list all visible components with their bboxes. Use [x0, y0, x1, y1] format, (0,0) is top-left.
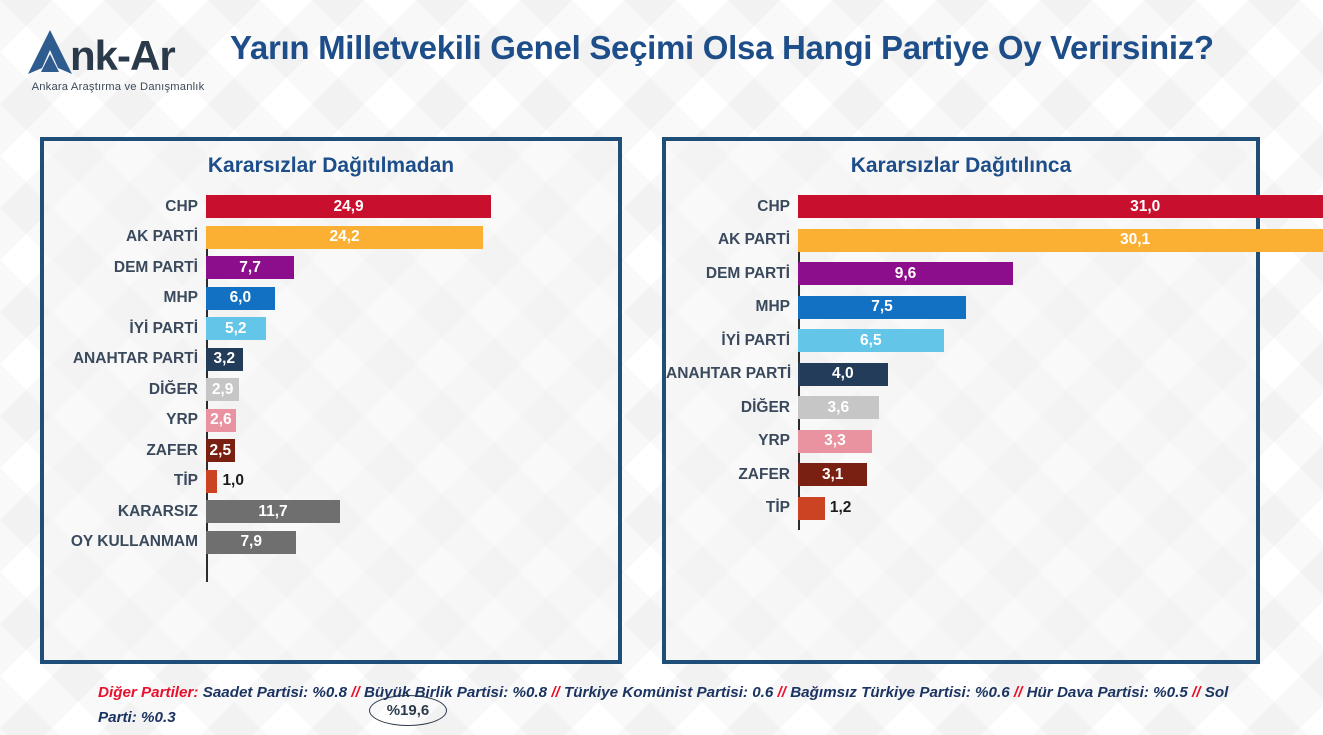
bar-track: 24,9 [206, 195, 618, 218]
bar-row: MHP7,5 [666, 293, 1256, 322]
footnote-item: Büyük Birlik Partisi: %0.8 [360, 684, 552, 701]
bar-row: ANAHTAR PARTİ3,2 [44, 345, 618, 374]
bar-category-label: DEM PARTİ [666, 265, 798, 283]
bar-category-label: MHP [44, 289, 206, 307]
bar-row: YRP2,6 [44, 406, 618, 435]
bar-value-label: 9,6 [895, 265, 917, 283]
bar-value-label: 7,7 [239, 259, 261, 277]
bar-value-label: 24,2 [329, 228, 359, 246]
bar-row: TİP1,2 [666, 494, 1256, 523]
footnote-separator: // [551, 684, 559, 701]
bar-track: 30,1 [798, 229, 1323, 252]
bar-chart-right: CHP31,0AK PARTİ30,1DEM PARTİ9,6MHP7,5İYİ… [666, 192, 1256, 523]
bar-track: 6,0 [206, 287, 618, 310]
bar-track: 1,0 [206, 470, 618, 493]
bar-value-label: 31,0 [1130, 198, 1160, 216]
bar-row: CHP24,9 [44, 192, 618, 221]
bar-row: ZAFER3,1 [666, 460, 1256, 489]
bar-track: 31,0 [798, 195, 1323, 218]
bar-category-label: TİP [666, 499, 798, 517]
bar-track: 3,1 [798, 463, 1256, 486]
bar-row: TİP1,0 [44, 467, 618, 496]
bar-track: 4,0 [798, 363, 1256, 386]
bar-category-label: YRP [44, 411, 206, 429]
footnote-item: Türkiye Komünist Partisi: 0.6 [560, 684, 778, 701]
bar-track: 7,7 [206, 256, 618, 279]
bar-value-label: 2,5 [210, 442, 232, 460]
bar-row: AK PARTİ30,1 [666, 226, 1256, 255]
bar: 7,7 [206, 256, 294, 279]
bar-category-label: DEM PARTİ [44, 259, 206, 277]
bar: 24,9 [206, 195, 491, 218]
bar: 3,6 [798, 396, 879, 419]
bar-value-label: 7,9 [240, 533, 262, 551]
bar: 2,9 [206, 378, 239, 401]
bar-track: 2,9 [206, 378, 618, 401]
bar-category-label: İYİ PARTİ [44, 320, 206, 338]
bar-row: DİĞER2,9 [44, 375, 618, 404]
footnote-separator: // [778, 684, 786, 701]
logo-subtitle: Ankara Araştırma ve Danışmanlık [23, 81, 213, 93]
bar: 3,1 [798, 463, 867, 486]
bar-value-label: 1,2 [830, 499, 852, 517]
bar-track: 2,5 [206, 439, 618, 462]
bar-track: 6,5 [798, 329, 1256, 352]
bar-rows-right: CHP31,0AK PARTİ30,1DEM PARTİ9,6MHP7,5İYİ… [666, 192, 1256, 523]
bar-rows-left: CHP24,9AK PARTİ24,2DEM PARTİ7,7MHP6,0İYİ… [44, 192, 618, 557]
bar-value-label: 1,0 [222, 472, 244, 490]
bar-value-label: 6,0 [230, 289, 252, 307]
bar: 11,7 [206, 500, 340, 523]
bar-row: OY KULLANMAM7,9 [44, 528, 618, 557]
bar-row: YRP3,3 [666, 427, 1256, 456]
logo-wordmark: nk-Ar [70, 34, 175, 78]
bar-track: 2,6 [206, 409, 618, 432]
bar-category-label: OY KULLANMAM [44, 533, 206, 551]
bar-row: CHP31,0 [666, 192, 1256, 221]
poll-infographic-page: nk-Ar Ankara Araştırma ve Danışmanlık Ya… [0, 0, 1323, 735]
bar-chart-left: CHP24,9AK PARTİ24,2DEM PARTİ7,7MHP6,0İYİ… [44, 192, 618, 557]
chart-title-left: Kararsızlar Dağıtılmadan [44, 154, 618, 178]
bar-track: 24,2 [206, 226, 618, 249]
bar-category-label: YRP [666, 432, 798, 450]
bar: 4,0 [798, 363, 888, 386]
bar: 1,0 [206, 470, 217, 493]
bar-category-label: ANAHTAR PARTİ [44, 350, 206, 368]
bar-row: DEM PARTİ7,7 [44, 253, 618, 282]
footnote-item: Hür Dava Partisi: %0.5 [1022, 684, 1192, 701]
bar-category-label: ZAFER [44, 442, 206, 460]
bar-value-label: 3,3 [824, 432, 846, 450]
bar-track: 9,6 [798, 262, 1256, 285]
bar-row: MHP6,0 [44, 284, 618, 313]
footnote-lead: Diğer Partiler: [98, 684, 198, 701]
bar-row: DİĞER3,6 [666, 393, 1256, 422]
bar: 3,3 [798, 430, 872, 453]
header: nk-Ar Ankara Araştırma ve Danışmanlık Ya… [0, 0, 1323, 122]
bar-value-label: 11,7 [258, 503, 287, 521]
chart-panel-undistributed: Kararsızlar Dağıtılmadan CHP24,9AK PARTİ… [40, 137, 622, 664]
bar-value-label: 3,2 [214, 350, 236, 368]
bar-track: 3,6 [798, 396, 1256, 419]
bar-value-label: 30,1 [1120, 231, 1150, 249]
bar: 31,0 [798, 195, 1323, 218]
bar-category-label: AK PARTİ [666, 231, 798, 249]
chart-title-right: Kararsızlar Dağıtılınca [666, 154, 1256, 178]
footnote-items: Saadet Partisi: %0.8 // Büyük Birlik Par… [98, 684, 1228, 726]
bar: 2,5 [206, 439, 235, 462]
bar-row: İYİ PARTİ5,2 [44, 314, 618, 343]
bar-value-label: 2,9 [212, 381, 234, 399]
bar: 30,1 [798, 229, 1323, 252]
page-title: Yarın Milletvekili Genel Seçimi Olsa Han… [230, 28, 1230, 68]
bar-track: 3,2 [206, 348, 618, 371]
bar-category-label: İYİ PARTİ [666, 332, 798, 350]
bar-category-label: DİĞER [666, 399, 798, 417]
bar-track: 11,7 [206, 500, 618, 523]
bar-category-label: ZAFER [666, 466, 798, 484]
bar-value-label: 2,6 [210, 411, 232, 429]
footnote-separator: // [351, 684, 359, 701]
bar-category-label: CHP [44, 198, 206, 216]
bar: 1,2 [798, 497, 825, 520]
logo-row: nk-Ar [24, 26, 212, 78]
bar-track: 7,9 [206, 531, 618, 554]
other-parties-footnote: Diğer Partiler: Saadet Partisi: %0.8 // … [98, 680, 1238, 730]
bar-value-label: 7,5 [871, 298, 893, 316]
bar: 9,6 [798, 262, 1013, 285]
bar-track: 1,2 [798, 497, 1256, 520]
bar-category-label: DİĞER [44, 381, 206, 399]
bar-value-label: 4,0 [832, 365, 854, 383]
brand-logo: nk-Ar Ankara Araştırma ve Danışmanlık [24, 26, 212, 93]
bar-track: 3,3 [798, 430, 1256, 453]
bar-track: 7,5 [798, 296, 1256, 319]
bar-category-label: KARARSIZ [44, 503, 206, 521]
bar: 24,2 [206, 226, 483, 249]
bar: 5,2 [206, 317, 266, 340]
bar-row: KARARSIZ11,7 [44, 497, 618, 526]
bar: 7,5 [798, 296, 966, 319]
bar: 7,9 [206, 531, 296, 554]
bar-value-label: 24,9 [333, 198, 363, 216]
bar-value-label: 6,5 [860, 332, 882, 350]
bar-value-label: 3,6 [828, 399, 850, 417]
bar-category-label: AK PARTİ [44, 228, 206, 246]
bar-row: ZAFER2,5 [44, 436, 618, 465]
bar-row: İYİ PARTİ6,5 [666, 326, 1256, 355]
footnote-item: Saadet Partisi: %0.8 [203, 684, 352, 701]
bar: 2,6 [206, 409, 236, 432]
bar-row: DEM PARTİ9,6 [666, 259, 1256, 288]
bar: 6,5 [798, 329, 944, 352]
chart-panel-distributed: Kararsızlar Dağıtılınca CHP31,0AK PARTİ3… [662, 137, 1260, 664]
bar: 3,2 [206, 348, 243, 371]
bar-category-label: CHP [666, 198, 798, 216]
bar-row: ANAHTAR PARTİ4,0 [666, 360, 1256, 389]
bar-value-label: 5,2 [225, 320, 247, 338]
bar-category-label: TİP [44, 472, 206, 490]
triangle-a-logo-icon [24, 28, 76, 78]
bar: 6,0 [206, 287, 275, 310]
footnote-item: Bağımsız Türkiye Partisi: %0.6 [786, 684, 1014, 701]
bar-category-label: ANAHTAR PARTİ [666, 365, 798, 383]
bar-row: AK PARTİ24,2 [44, 223, 618, 252]
bar-category-label: MHP [666, 298, 798, 316]
bar-track: 5,2 [206, 317, 618, 340]
bar-value-label: 3,1 [822, 466, 844, 484]
